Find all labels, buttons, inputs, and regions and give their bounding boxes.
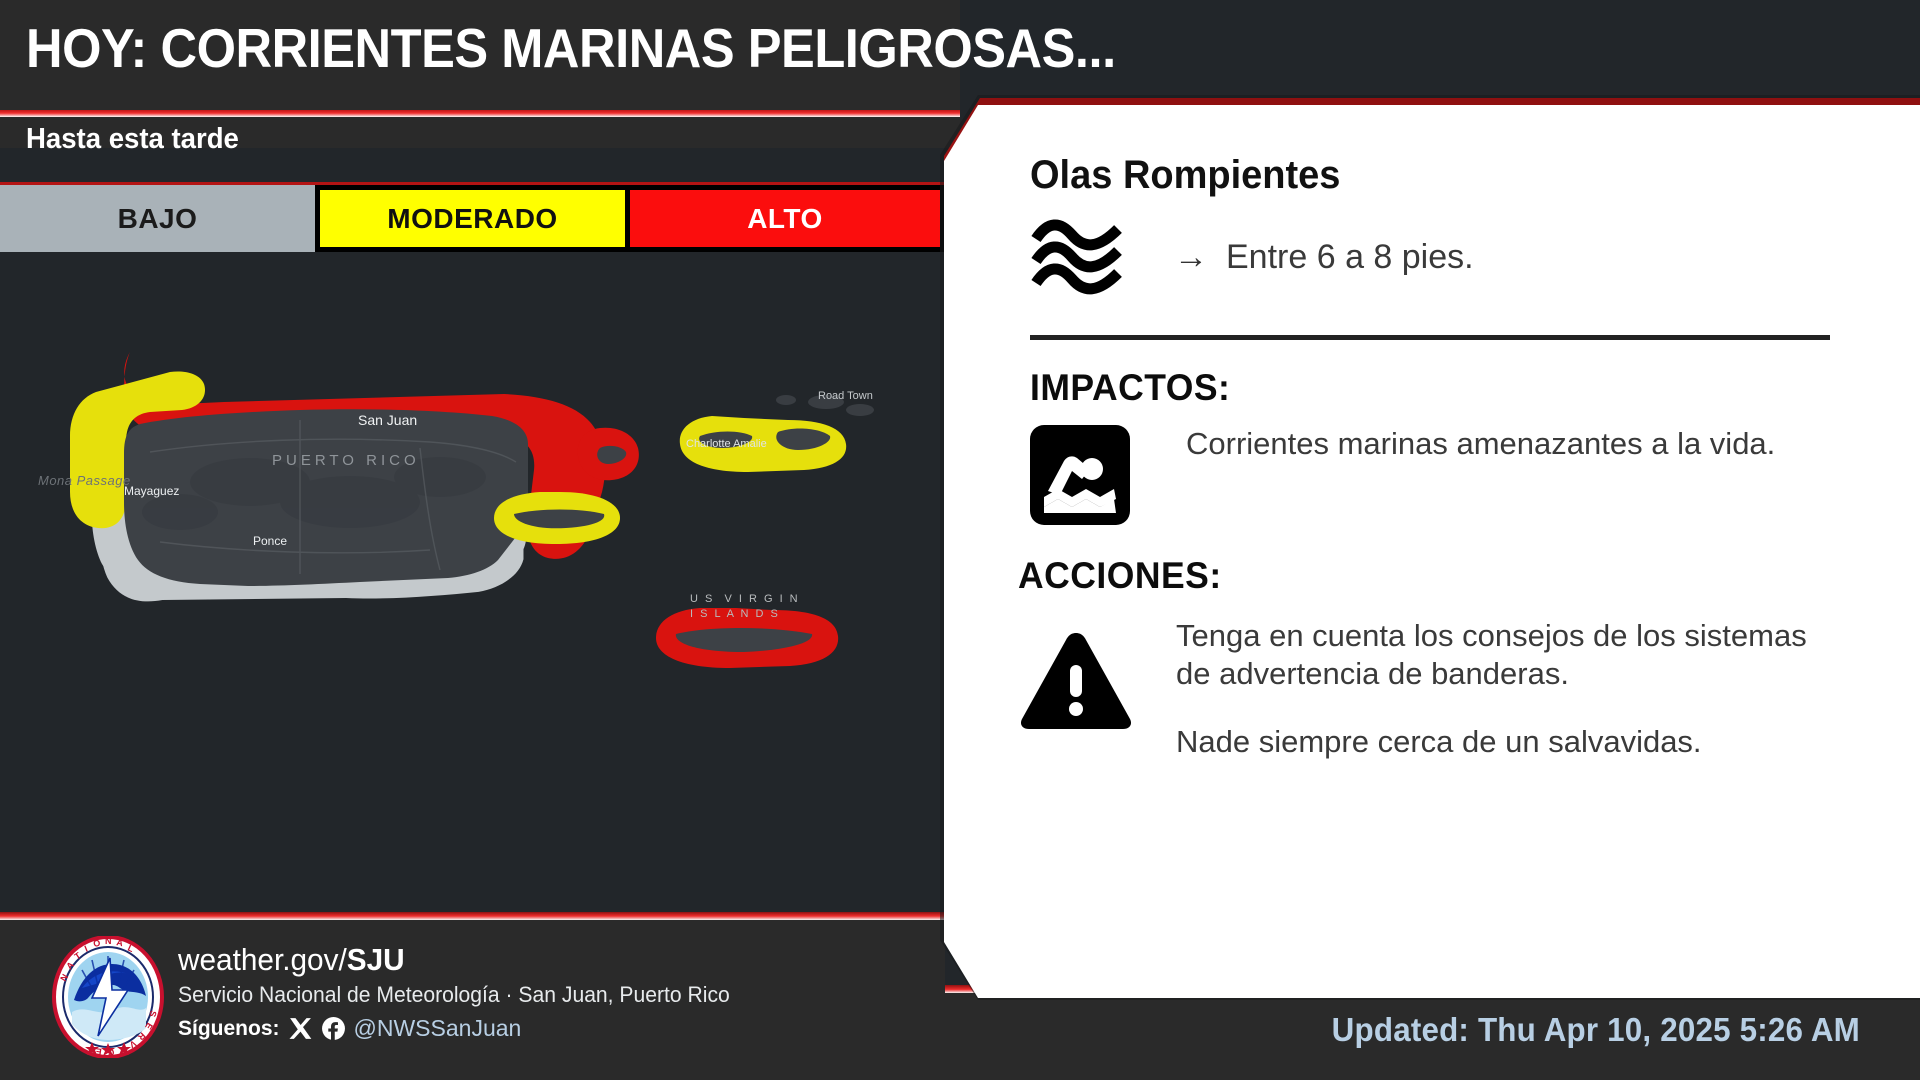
section-divider [1030, 335, 1830, 340]
risk-level-bajo[interactable]: BAJO [0, 185, 315, 252]
action-item-2: Nade siempre cerca de un salvavidas. [1176, 723, 1816, 761]
subtitle: Hasta esta tarde [26, 123, 239, 156]
action-item-1: Tenga en cuenta los consejos de los sist… [1176, 617, 1816, 693]
arrow-right-icon: → [1174, 240, 1208, 274]
updated-bar: Updated: Thu Apr 10, 2025 5:26 AM [945, 993, 1920, 1080]
actions-row: Tenga en cuenta los consejos de los sist… [1018, 617, 1816, 760]
swimmer-warning-icon [1030, 425, 1130, 525]
infographic-canvas: HOY: CORRIENTES MARINAS PELIGROSAS... Ha… [0, 0, 1920, 1080]
coastal-hazard-map[interactable]: PUERTO RICO San Juan Mayaguez Ponce Mona… [0, 252, 945, 912]
footer-red-accent [0, 912, 945, 920]
actions-text-block: Tenga en cuenta los consejos de los sist… [1176, 617, 1816, 760]
footer-text-block: weather.gov/SJU Servicio Nacional de Met… [178, 943, 753, 1042]
details-panel: Olas Rompientes → Entre 6 a 8 pies. IMPA… [944, 105, 1920, 998]
page-title: HOY: CORRIENTES MARINAS PELIGROSAS... [26, 16, 1116, 80]
footer-social-row: Síguenos: @NWSSanJuan [178, 1015, 753, 1042]
x-twitter-icon[interactable] [288, 1016, 313, 1041]
svg-text:N: N [105, 936, 112, 946]
footer-bar: N A T I O N A L S E R V I C E weather.go… [0, 920, 945, 1080]
map-graphic [0, 252, 945, 912]
wave-height-row: → Entre 6 a 8 pies. [1030, 217, 1474, 297]
risk-level-moderado[interactable]: MODERADO [315, 185, 630, 252]
footer-site[interactable]: weather.gov/SJU [178, 943, 730, 977]
wave-height-value: Entre 6 a 8 pies. [1226, 238, 1474, 277]
hazard-title: Olas Rompientes [1030, 153, 1340, 198]
warning-triangle-icon [1018, 627, 1134, 731]
social-handle[interactable]: @NWSSanJuan [354, 1015, 522, 1042]
risk-level-alto[interactable]: ALTO [630, 185, 945, 252]
waves-icon [1030, 217, 1126, 297]
updated-timestamp: Updated: Thu Apr 10, 2025 5:26 AM [991, 1011, 1860, 1049]
nws-logo: N A T I O N A L S E R V I C E [52, 936, 164, 1058]
actions-heading: ACCIONES: [1018, 555, 1222, 597]
impacts-heading: IMPACTOS: [1030, 367, 1230, 409]
facebook-icon[interactable] [321, 1016, 346, 1041]
footer-agency: Servicio Nacional de Meteorología · San … [178, 982, 730, 1008]
header-red-accent [0, 110, 960, 117]
footer-site-office: SJU [347, 942, 405, 977]
impacts-row: Corrientes marinas amenazantes a la vida… [1030, 425, 1775, 525]
risk-level-bar: BAJO MODERADO ALTO [0, 185, 945, 252]
follow-us-label: Síguenos: [178, 1017, 280, 1041]
impacts-text: Corrientes marinas amenazantes a la vida… [1186, 425, 1775, 463]
footer-site-base: weather.gov/ [178, 942, 347, 977]
